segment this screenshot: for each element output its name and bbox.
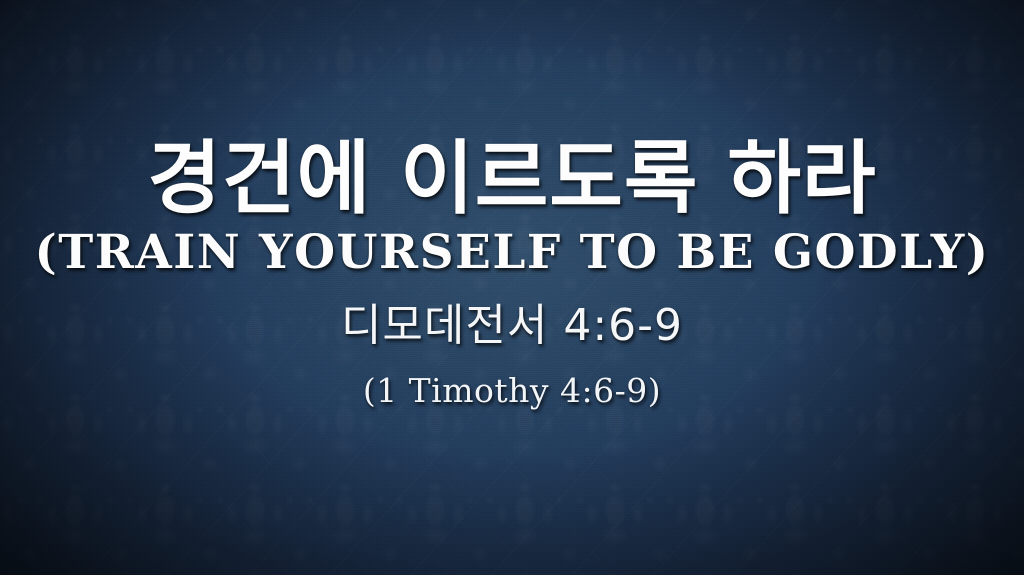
title-slide: 경건에 이르도록 하라 (TRAIN YOURSELF TO BE GODLY)…	[0, 0, 1024, 575]
slide-content: 경건에 이르도록 하라 (TRAIN YOURSELF TO BE GODLY)…	[0, 0, 1024, 575]
scripture-reference-english: (1 Timothy 4:6-9)	[0, 374, 1024, 407]
sermon-title-english: (TRAIN YOURSELF TO BE GODLY)	[0, 229, 1024, 276]
sermon-title-korean: 경건에 이르도록 하라	[0, 139, 1024, 219]
scripture-reference-korean: 디모데전서 4:6-9	[0, 304, 1024, 348]
